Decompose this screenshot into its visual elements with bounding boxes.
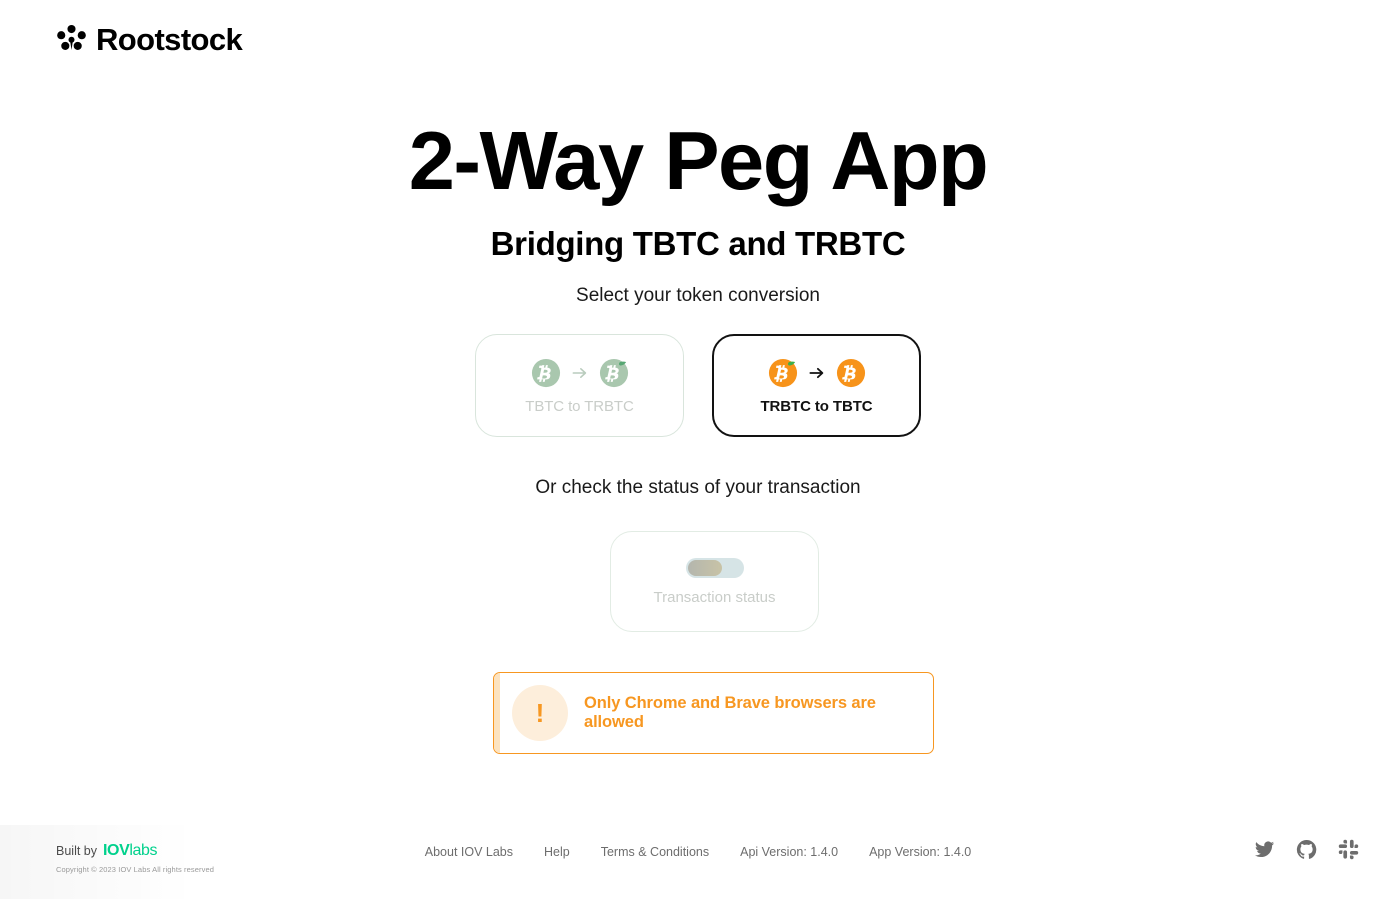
warning-message: Only Chrome and Brave browsers are allow…	[584, 694, 933, 732]
conversion-option-label: TBTC to TRBTC	[525, 398, 633, 415]
transaction-status-label: Transaction status	[654, 589, 776, 606]
footer-link-about[interactable]: About IOV Labs	[425, 845, 513, 859]
footer-app-version: App Version: 1.4.0	[869, 845, 971, 859]
trbtc-coin-icon	[599, 358, 629, 388]
warning-accent-bar	[494, 673, 500, 753]
arrow-right-icon	[570, 363, 590, 383]
trbtc-coin-icon	[768, 358, 798, 388]
status-section-label: Or check the status of your transaction	[0, 477, 1396, 499]
brand-logo[interactable]: Rootstock	[56, 24, 242, 55]
footer-links: About IOV Labs Help Terms & Conditions A…	[0, 845, 1396, 859]
tbtc-coin-icon	[531, 358, 561, 388]
twitter-icon[interactable]	[1254, 839, 1275, 860]
exclamation-glyph: !	[536, 700, 545, 726]
app-root: Rootstock 2-Way Peg App Bridging TBTC an…	[0, 0, 1396, 899]
copyright-text: Copyright © 2023 IOV Labs All rights res…	[56, 865, 214, 874]
footer-shade	[0, 825, 1396, 899]
rootstock-flower-icon	[56, 24, 87, 55]
conversion-option-trbtc-to-tbtc[interactable]: TRBTC to TBTC	[712, 334, 921, 437]
browser-warning-banner: ! Only Chrome and Brave browsers are all…	[493, 672, 934, 754]
conversion-icons	[531, 357, 629, 389]
page-subtitle: Bridging TBTC and TRBTC	[0, 225, 1396, 263]
footer: Built by IOVlabs Copyright © 2023 IOV La…	[0, 825, 1396, 899]
conversion-options: TBTC to TRBTC	[0, 334, 1396, 437]
footer-api-version: Api Version: 1.4.0	[740, 845, 838, 859]
conversion-icons	[768, 357, 866, 389]
conversion-option-label: TRBTC to TBTC	[760, 398, 872, 415]
footer-link-terms[interactable]: Terms & Conditions	[601, 845, 709, 859]
github-icon[interactable]	[1296, 839, 1317, 860]
page-title: 2-Way Peg App	[0, 117, 1396, 204]
brand-name: Rootstock	[96, 24, 242, 55]
status-pill-icon	[686, 558, 744, 578]
conversion-option-tbtc-to-trbtc[interactable]: TBTC to TRBTC	[475, 334, 684, 437]
tbtc-coin-icon	[836, 358, 866, 388]
transaction-status-card[interactable]: Transaction status	[610, 531, 819, 632]
conversion-section-label: Select your token conversion	[0, 285, 1396, 307]
footer-link-help[interactable]: Help	[544, 845, 570, 859]
arrow-right-icon	[807, 363, 827, 383]
slack-icon[interactable]	[1338, 839, 1359, 860]
exclamation-icon: !	[512, 685, 568, 741]
footer-social-links	[1254, 839, 1359, 860]
